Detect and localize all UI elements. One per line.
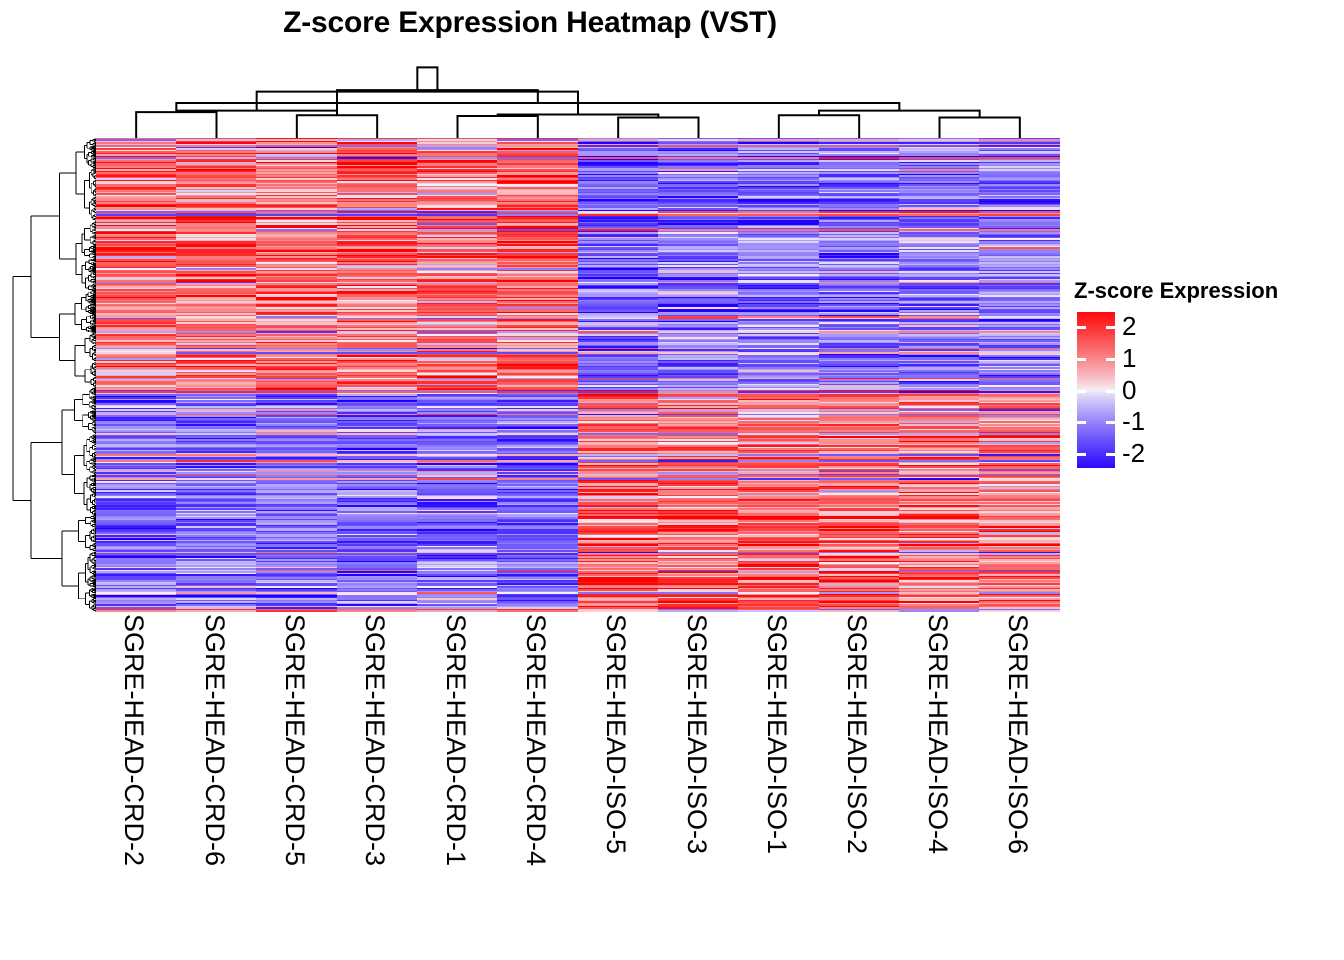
column-label-sgre-head-crd-5: SGRE-HEAD-CRD-5: [280, 614, 310, 944]
color-legend: Z-score Expression 210-1-2: [1074, 278, 1334, 472]
dendrogram-link: [819, 111, 980, 118]
legend-title: Z-score Expression: [1074, 278, 1334, 304]
dendrogram-link: [136, 112, 216, 138]
dendrogram-link: [940, 117, 1020, 138]
legend-tick-label: 1: [1122, 345, 1136, 371]
dendrogram-link: [297, 115, 377, 138]
heatmap-figure: Z-score Expression Heatmap (VST) SGRE-HE…: [0, 0, 1344, 960]
column-dendrogram: [96, 58, 1060, 138]
legend-tick-label: -1: [1122, 408, 1145, 434]
legend-colorbar: [1077, 312, 1115, 468]
dendrogram-link: [458, 116, 538, 138]
column-label-sgre-head-iso-4: SGRE-HEAD-ISO-4: [923, 614, 953, 944]
column-label-sgre-head-iso-2: SGRE-HEAD-ISO-2: [842, 614, 872, 944]
row-dendrogram-links: [13, 139, 96, 611]
dendrogram-link: [417, 67, 437, 91]
dendrogram-link: [618, 117, 698, 138]
dendrogram-link: [779, 115, 859, 138]
legend-tick-label: 0: [1122, 377, 1136, 403]
page-title: Z-score Expression Heatmap (VST): [0, 6, 1060, 40]
heatmap-grid[interactable]: [96, 138, 1060, 612]
column-label-sgre-head-iso-1: SGRE-HEAD-ISO-1: [762, 614, 792, 944]
column-label-sgre-head-crd-2: SGRE-HEAD-CRD-2: [119, 614, 149, 944]
column-label-sgre-head-iso-3: SGRE-HEAD-ISO-3: [682, 614, 712, 944]
column-label-sgre-head-iso-5: SGRE-HEAD-ISO-5: [601, 614, 631, 944]
legend-body: 210-1-2: [1074, 312, 1334, 472]
column-label-sgre-head-crd-3: SGRE-HEAD-CRD-3: [360, 614, 390, 944]
column-label-sgre-head-crd-1: SGRE-HEAD-CRD-1: [441, 614, 471, 944]
column-label-sgre-head-crd-6: SGRE-HEAD-CRD-6: [200, 614, 230, 944]
row-dendrogram: [12, 138, 96, 612]
column-label-axis: SGRE-HEAD-CRD-2SGRE-HEAD-CRD-6SGRE-HEAD-…: [96, 614, 1060, 944]
legend-tick-label: -2: [1122, 440, 1145, 466]
column-label-sgre-head-iso-6: SGRE-HEAD-ISO-6: [1003, 614, 1033, 944]
legend-tick-label: 2: [1122, 313, 1136, 339]
column-label-sgre-head-crd-4: SGRE-HEAD-CRD-4: [521, 614, 551, 944]
